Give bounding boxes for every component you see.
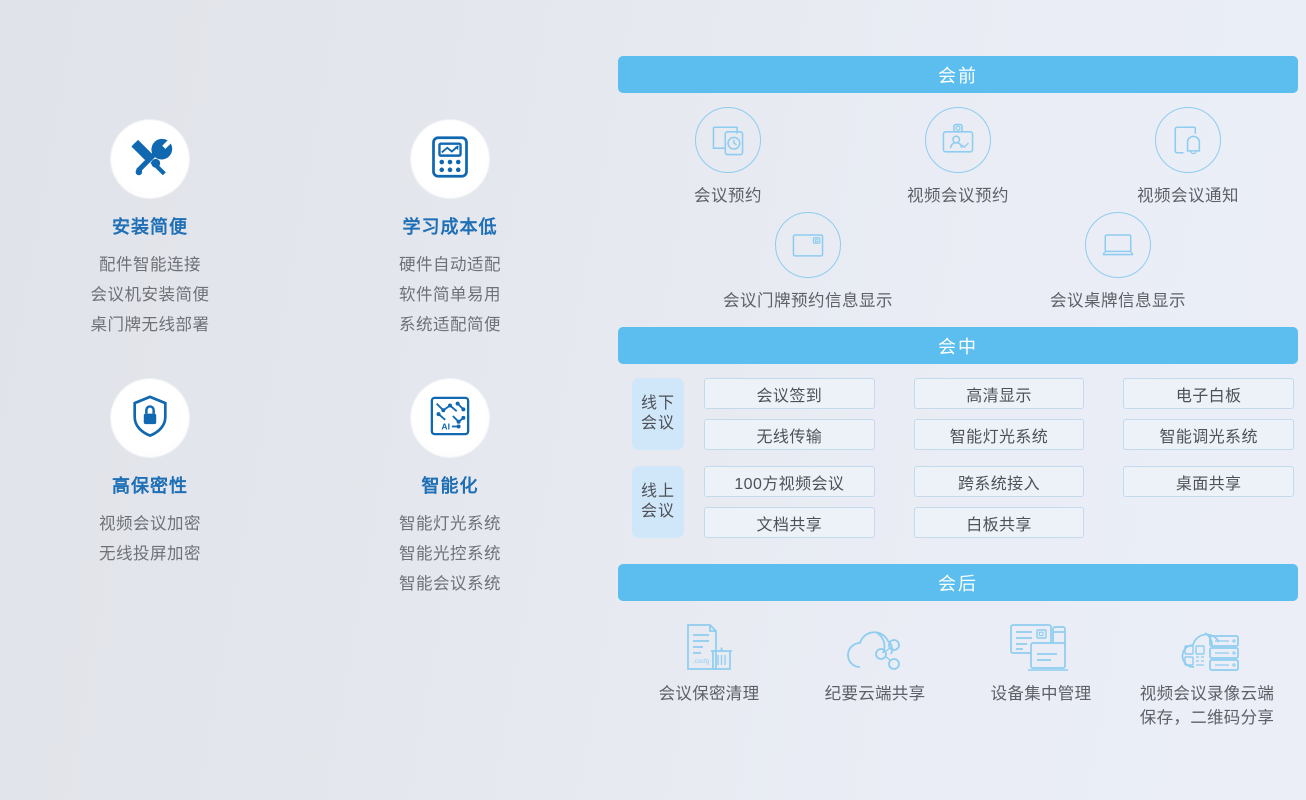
- shield-lock-icon: [130, 394, 170, 443]
- feature-card: 高保密性 视频会议加密 无线投屏加密: [0, 379, 300, 596]
- during-meeting-row: 线下 会议 会议签到 高清显示 电子白板 无线传输 智能灯光系统 智能调光系统: [632, 378, 1294, 450]
- feature-tag[interactable]: 桌面共享: [1123, 466, 1294, 497]
- feature-lines: 智能灯光系统 智能光控系统 智能会议系统: [399, 512, 501, 596]
- pre-meeting-row-1: 会议预约: [618, 93, 1298, 206]
- during-meeting-body: 线下 会议 会议签到 高清显示 电子白板 无线传输 智能灯光系统 智能调光系统 …: [618, 364, 1298, 548]
- pre-meeting-label: 会议门牌预约信息显示: [723, 287, 893, 311]
- feature-badge: [411, 120, 489, 198]
- tag-grid-offline: 会议签到 高清显示 电子白板 无线传输 智能灯光系统 智能调光系统: [704, 378, 1294, 450]
- pre-meeting-item[interactable]: 会议预约: [648, 107, 808, 206]
- feature-card: AI 智能化 智能灯光系统 智能光控系统 智能会议系统: [300, 379, 600, 596]
- pre-meeting-label: 视频会议通知: [1137, 182, 1239, 206]
- post-meeting-label-line2: 保存，二维码分享: [1140, 709, 1274, 727]
- mode-chip-line1: 线上: [641, 482, 675, 502]
- feature-tag[interactable]: 智能调光系统: [1123, 419, 1294, 450]
- mode-chip-line2: 会议: [641, 414, 675, 434]
- desk-monitor-icon: [1085, 212, 1151, 278]
- feature-line: 会议机安装简便: [91, 283, 210, 308]
- pre-meeting-item[interactable]: 视频会议预约: [878, 107, 1038, 206]
- feature-line: 硬件自动适配: [399, 253, 501, 278]
- post-meeting-item[interactable]: .cscfg 会议保密清理: [634, 617, 784, 731]
- badge-person-camera-icon: [925, 107, 991, 173]
- feature-tag[interactable]: 高清显示: [914, 378, 1085, 409]
- section-header-post-meeting: 会后: [618, 564, 1298, 601]
- section-post-meeting: 会后 .cscfg: [618, 564, 1298, 731]
- mode-chip-offline: 线下 会议: [632, 378, 684, 450]
- cloud-share-icon: [844, 617, 906, 675]
- feature-title: 高保密性: [112, 472, 188, 498]
- section-header-pre-meeting: 会前: [618, 56, 1298, 93]
- feature-tag[interactable]: 文档共享: [704, 507, 875, 538]
- section-pre-meeting: 会前 会议预约: [618, 56, 1298, 311]
- pre-meeting-item[interactable]: 会议桌牌信息显示: [1018, 212, 1218, 311]
- devices-manage-icon: [1007, 617, 1075, 675]
- feature-badge: [111, 379, 189, 457]
- during-meeting-row: 线上 会议 100方视频会议 跨系统接入 桌面共享 文档共享 白板共享: [632, 466, 1294, 538]
- pre-meeting-label: 会议预约: [694, 182, 762, 206]
- document-trash-icon: .cscfg: [680, 617, 738, 675]
- feature-card: 安装简便 配件智能连接 会议机安装简便 桌门牌无线部署: [0, 120, 300, 337]
- feature-card: 学习成本低 硬件自动适配 软件简单易用 系统适配简便: [300, 120, 600, 337]
- post-meeting-label-line1: 视频会议录像云端: [1140, 685, 1274, 703]
- feature-tag[interactable]: 电子白板: [1123, 378, 1294, 409]
- feature-line: 智能会议系统: [399, 572, 501, 597]
- feature-tag[interactable]: 跨系统接入: [914, 466, 1085, 497]
- feature-line: 无线投屏加密: [99, 542, 201, 567]
- door-sign-screen-icon: [775, 212, 841, 278]
- pre-meeting-label: 会议桌牌信息显示: [1050, 287, 1186, 311]
- feature-tag[interactable]: 会议签到: [704, 378, 875, 409]
- post-meeting-label: 纪要云端共享: [825, 683, 926, 707]
- pre-meeting-item[interactable]: 会议门牌预约信息显示: [698, 212, 918, 311]
- post-meeting-item[interactable]: 纪要云端共享: [800, 617, 950, 731]
- post-meeting-label: 会议保密清理: [659, 683, 760, 707]
- feature-tag[interactable]: 智能灯光系统: [914, 419, 1085, 450]
- calculator-chart-icon: [429, 135, 471, 184]
- infographic-page: 安装简便 配件智能连接 会议机安装简便 桌门牌无线部署: [0, 0, 1306, 800]
- section-during-meeting: 会中 线下 会议 会议签到 高清显示 电子白板 无线传输 智能灯光系统 智能调光…: [618, 327, 1298, 548]
- feature-title: 智能化: [422, 472, 479, 498]
- feature-line: 桌门牌无线部署: [91, 313, 210, 338]
- section-header-during-meeting: 会中: [618, 327, 1298, 364]
- feature-line: 配件智能连接: [99, 253, 201, 278]
- post-meeting-label: 视频会议录像云端 保存，二维码分享: [1140, 683, 1274, 731]
- post-meeting-item[interactable]: 视频会议录像云端 保存，二维码分享: [1132, 617, 1282, 731]
- features-panel: 安装简便 配件智能连接 会议机安装简便 桌门牌无线部署: [0, 0, 600, 800]
- ai-chip-icon: AI: [429, 395, 471, 442]
- feature-tag-placeholder: [1123, 507, 1294, 536]
- feature-lines: 视频会议加密 无线投屏加密: [99, 512, 201, 567]
- feature-title: 学习成本低: [403, 213, 498, 239]
- feature-line: 软件简单易用: [399, 283, 501, 308]
- feature-line: 视频会议加密: [99, 512, 201, 537]
- pre-meeting-label: 视频会议预约: [907, 182, 1009, 206]
- feature-lines: 硬件自动适配 软件简单易用 系统适配简便: [399, 253, 501, 337]
- feature-line: 智能灯光系统: [399, 512, 501, 537]
- mode-chip-online: 线上 会议: [632, 466, 684, 538]
- mode-chip-line2: 会议: [641, 502, 675, 522]
- meeting-lifecycle-panel: 会前 会议预约: [600, 0, 1306, 800]
- tag-grid-online: 100方视频会议 跨系统接入 桌面共享 文档共享 白板共享: [704, 466, 1294, 538]
- mode-chip-line1: 线下: [641, 394, 675, 414]
- post-meeting-row: .cscfg 会议保密清理: [618, 601, 1298, 731]
- phone-bell-icon: [1155, 107, 1221, 173]
- pre-meeting-item[interactable]: 视频会议通知: [1108, 107, 1268, 206]
- doc-extension-text: .cscfg: [693, 658, 710, 665]
- features-grid: 安装简便 配件智能连接 会议机安装简便 桌门牌无线部署: [0, 120, 600, 597]
- feature-badge: [111, 120, 189, 198]
- feature-badge: AI: [411, 379, 489, 457]
- feature-line: 智能光控系统: [399, 542, 501, 567]
- post-meeting-item[interactable]: 设备集中管理: [966, 617, 1116, 731]
- screen-phone-clock-icon: [695, 107, 761, 173]
- pre-meeting-row-2: 会议门牌预约信息显示 会议桌牌信息显示: [618, 206, 1298, 311]
- cloud-qr-server-icon: [1172, 617, 1242, 675]
- svg-text:AI: AI: [441, 421, 450, 431]
- post-meeting-label: 设备集中管理: [991, 683, 1092, 707]
- feature-tag[interactable]: 无线传输: [704, 419, 875, 450]
- feature-tag[interactable]: 100方视频会议: [704, 466, 875, 497]
- feature-lines: 配件智能连接 会议机安装简便 桌门牌无线部署: [91, 253, 210, 337]
- feature-title: 安装简便: [112, 213, 188, 239]
- feature-tag[interactable]: 白板共享: [914, 507, 1085, 538]
- feature-line: 系统适配简便: [399, 313, 501, 338]
- tools-icon: [127, 134, 173, 185]
